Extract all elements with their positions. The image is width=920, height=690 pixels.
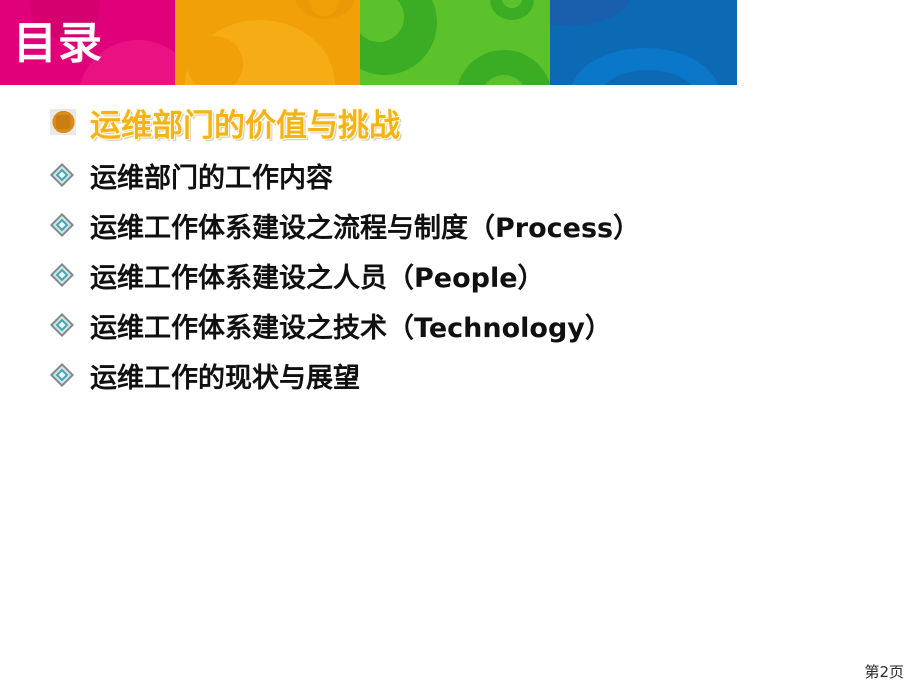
decorative-swirl [598,70,698,85]
slide-header-band [0,0,737,85]
diamond-icon [50,363,74,387]
decorative-swirl [481,75,527,85]
list-item-label: 运维部门的价值与挑战 [90,100,400,145]
list-item-label: 运维工作的现状与展望 [90,356,360,395]
list-item[interactable]: 运维部门的价值与挑战 [50,98,900,146]
decorative-swirl [550,0,630,26]
diamond-icon [50,313,74,337]
header-segment-blue [550,0,737,85]
decorative-swirl [309,0,339,16]
decorative-swirl [490,0,534,20]
decorative-swirl [570,48,720,85]
decorative-swirl [360,0,437,75]
page-title: 目录 [13,18,103,70]
page-number: 第2页 [864,661,904,682]
table-of-contents: 运维部门的价值与挑战 运维部门的工作内容 运维工作体系建设之流程与制度（Proc… [50,98,900,400]
diamond-icon [50,263,74,287]
list-item[interactable]: 运维工作体系建设之流程与制度（Process） [50,200,900,250]
decorative-swirl [502,0,522,8]
list-item-label: 运维部门的工作内容 [90,156,333,195]
list-item[interactable]: 运维工作体系建设之技术（Technology） [50,300,900,350]
decorative-swirl [456,50,550,85]
decorative-swirl [295,0,355,19]
list-item-label: 运维工作体系建设之技术（Technology） [90,306,612,345]
diamond-icon [50,213,74,237]
decorative-swirl [187,36,243,85]
list-item[interactable]: 运维部门的工作内容 [50,150,900,200]
sun-burst-icon [50,109,76,135]
decorative-swirl [360,0,404,42]
list-item-label: 运维工作体系建设之人员（People） [90,256,545,295]
header-segment-green [360,0,550,85]
list-item-label: 运维工作体系建设之流程与制度（Process） [90,206,640,245]
list-item[interactable]: 运维工作体系建设之人员（People） [50,250,900,300]
header-segment-orange [175,0,360,85]
diamond-icon [50,163,74,187]
list-item[interactable]: 运维工作的现状与展望 [50,350,900,400]
decorative-swirl [185,20,335,85]
